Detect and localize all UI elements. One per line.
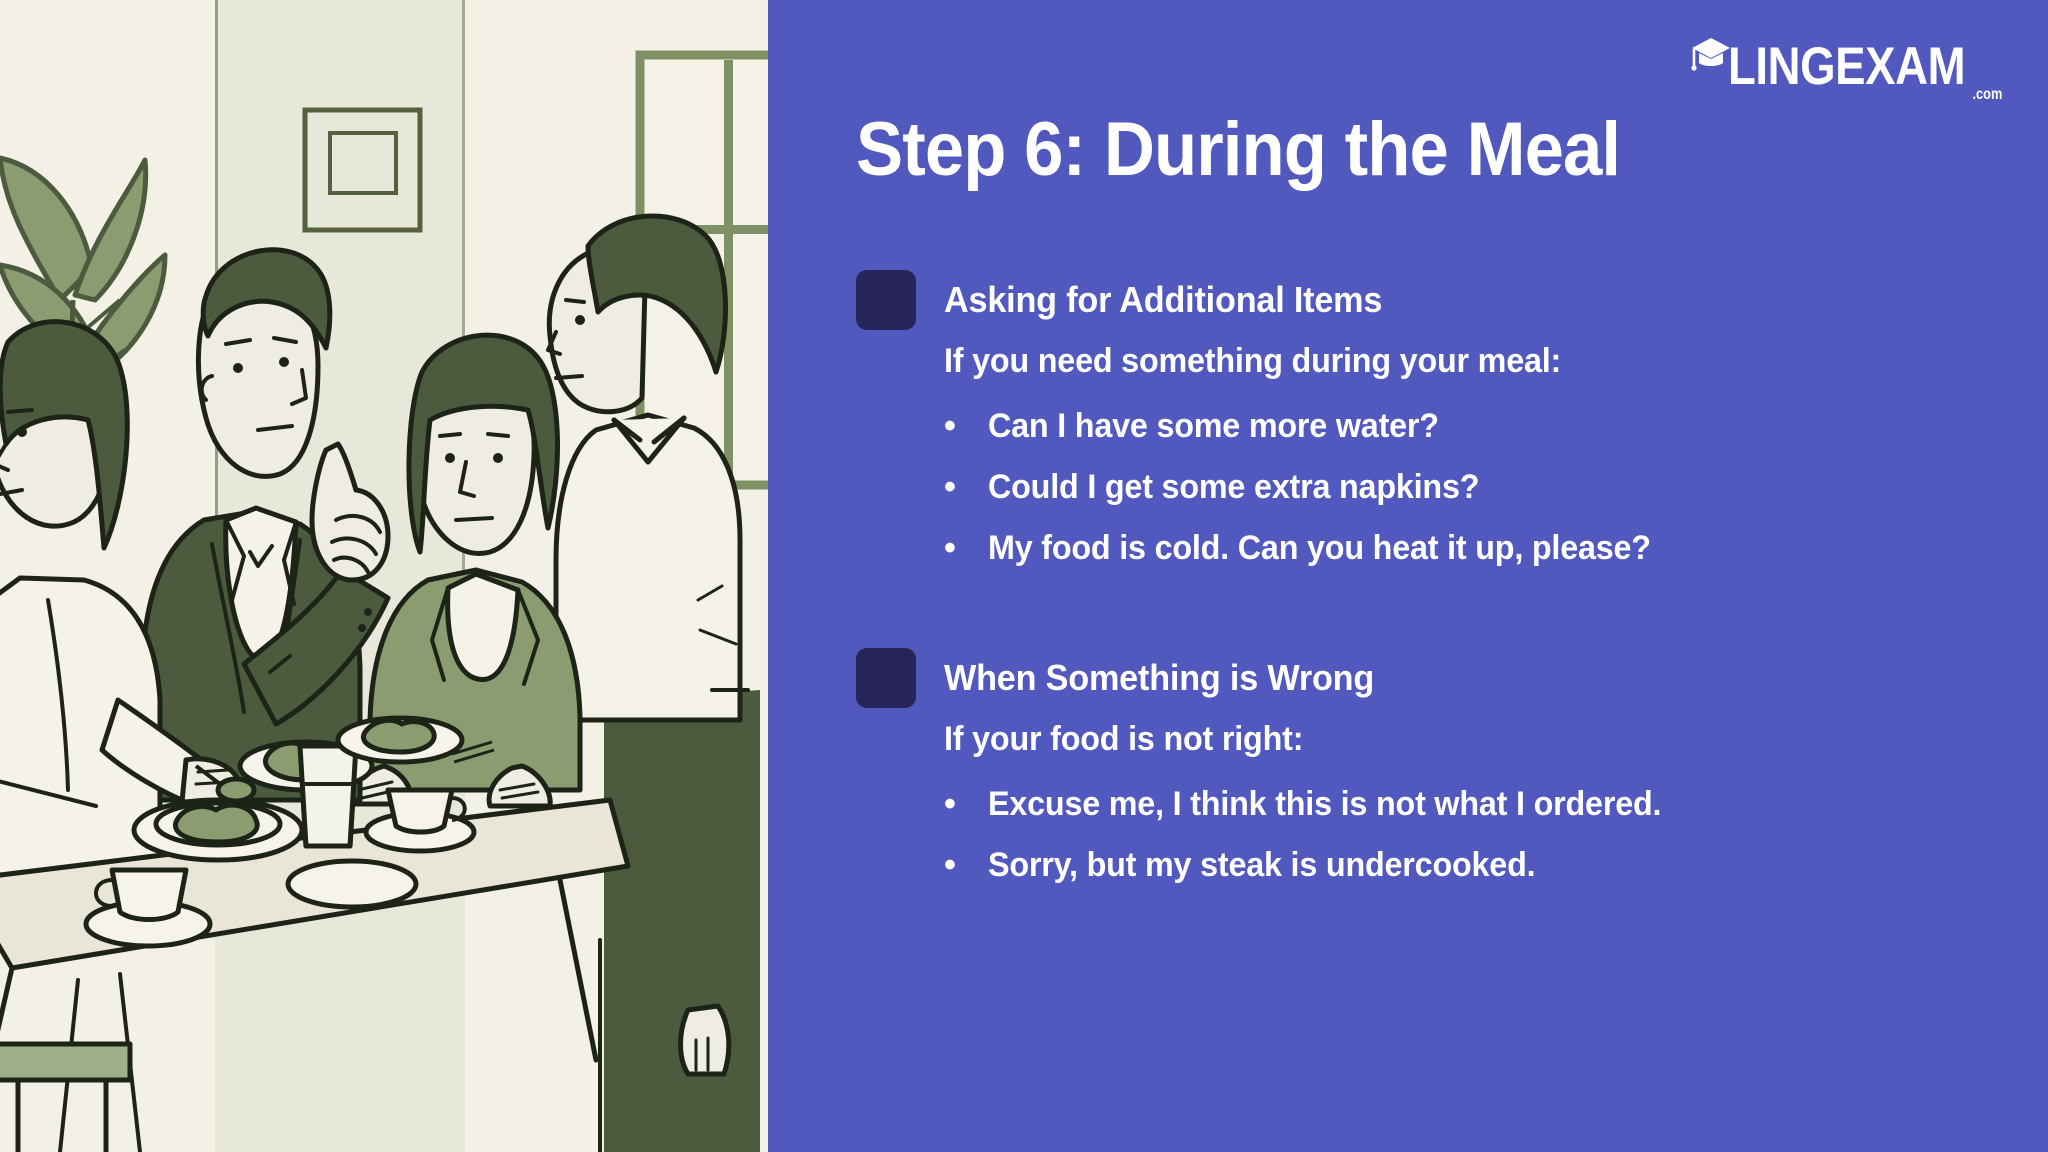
bullet-dot-icon: • (944, 531, 988, 565)
bullet-dot-icon: • (944, 470, 988, 504)
list-item-text: Sorry, but my steak is undercooked. (988, 846, 1535, 885)
square-marker-icon (856, 648, 916, 708)
bullet-dot-icon: • (944, 409, 988, 443)
brand-tld: .com (1972, 86, 2002, 104)
page-title: Step 6: During the Meal (856, 111, 1620, 189)
section-intro: If your food is not right: (944, 720, 1940, 759)
list-item-text: Can I have some more water? (988, 407, 1439, 446)
section-heading: When Something is Wrong (944, 657, 1374, 699)
bullet-dot-icon: • (944, 787, 988, 821)
bullet-list: • Can I have some more water? • Could I … (944, 407, 1992, 568)
content-panel: LINGEXAM .com Step 6: During the Meal As… (768, 0, 2048, 1152)
section-header: Asking for Additional Items (856, 270, 1992, 330)
section-when-something-is-wrong: When Something is Wrong If your food is … (856, 648, 1992, 885)
list-item: • My food is cold. Can you heat it up, p… (944, 529, 1992, 568)
list-item: • Sorry, but my steak is undercooked. (944, 846, 1992, 885)
section-heading: Asking for Additional Items (944, 279, 1382, 321)
illustration-panel (0, 0, 768, 1152)
section-asking-for-additional-items: Asking for Additional Items If you need … (856, 270, 1992, 568)
brand-logo[interactable]: LINGEXAM .com (1688, 26, 2004, 88)
list-item-text: Could I get some extra napkins? (988, 468, 1479, 507)
brand-wordmark: LINGEXAM (1728, 45, 1965, 88)
list-item: • Excuse me, I think this is not what I … (944, 785, 1992, 824)
list-item: • Could I get some extra napkins? (944, 468, 1992, 507)
list-item: • Can I have some more water? (944, 407, 1992, 446)
restaurant-scene-illustration (0, 0, 768, 1152)
slide: LINGEXAM .com Step 6: During the Meal As… (0, 0, 2048, 1152)
bullet-list: • Excuse me, I think this is not what I … (944, 785, 1992, 885)
square-marker-icon (856, 270, 916, 330)
section-header: When Something is Wrong (856, 648, 1992, 708)
list-item-text: My food is cold. Can you heat it up, ple… (988, 529, 1651, 568)
list-item-text: Excuse me, I think this is not what I or… (988, 785, 1661, 824)
sections-container: Asking for Additional Items If you need … (856, 270, 1992, 885)
bullet-dot-icon: • (944, 848, 988, 882)
section-intro: If you need something during your meal: (944, 342, 1940, 381)
